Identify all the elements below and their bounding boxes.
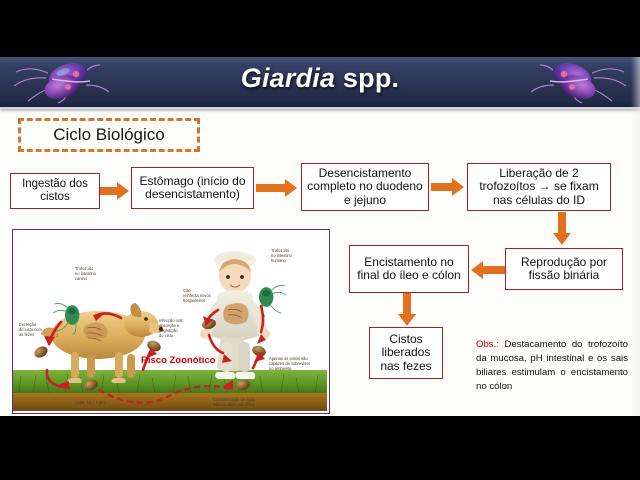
flow-box-encistamento: Encistamento no final do íleo e cólon xyxy=(349,245,469,293)
svg-text:no ambiente: no ambiente xyxy=(269,366,292,371)
flow-box-label: Estômago (início do desencistamento) xyxy=(132,175,253,202)
title-epithet: spp. xyxy=(335,63,399,93)
section-heading-label: Ciclo Biológico xyxy=(53,125,165,145)
svg-text:hospedeiros: hospedeiros xyxy=(183,298,205,303)
arrow-right-icon xyxy=(431,177,465,197)
title-banner: Giardia spp. xyxy=(0,57,640,109)
flow-box-reproducao: Reprodução por fissão binária xyxy=(505,248,623,290)
arrow-right-icon xyxy=(256,178,298,198)
title-genus: Giardia xyxy=(241,63,335,93)
observation-label: Obs.: xyxy=(476,339,499,350)
flow-box-estomago: Estômago (início do desencistamento) xyxy=(131,167,254,209)
svg-text:humano: humano xyxy=(271,258,287,263)
flow-box-liberacao: Liberação de 2 trofozoítos → se fixam na… xyxy=(467,163,611,211)
flow-box-label: Liberação de 2 trofozoítos → se fixam na… xyxy=(468,167,610,207)
arrow-left-icon xyxy=(470,260,505,280)
arrow-down-icon xyxy=(397,293,417,327)
flow-box-desencistamento: Desencistamento completo no duodeno e je… xyxy=(301,163,429,211)
svg-text:canino: canino xyxy=(75,276,88,281)
giardia-trophozoite-icon xyxy=(524,59,632,105)
observation-note: Obs.: Destacamento do trofozoíto da muco… xyxy=(476,338,628,394)
svg-text:as fezes: as fezes xyxy=(19,332,34,337)
flow-box-label: Cistos liberados nas fezes xyxy=(370,333,442,373)
section-heading: Ciclo Biológico xyxy=(18,118,200,152)
svg-text:do cisto: do cisto xyxy=(159,333,174,338)
observation-text: Destacamento do trofozoíto da mucosa, pH… xyxy=(476,339,628,392)
slide-canvas: Giardia spp. xyxy=(0,57,640,416)
flow-box-ingestao: Ingestão dos cistos xyxy=(10,173,100,209)
flow-box-label: Reprodução por fissão binária xyxy=(506,256,622,283)
arrow-down-icon xyxy=(552,212,572,246)
flow-box-label: Desencistamento completo no duodeno e je… xyxy=(302,167,428,207)
flow-box-label: Ingestão dos cistos xyxy=(11,178,99,204)
zoonotic-cycle-image: Trofozoíto no intestino canino Excreção … xyxy=(12,229,330,414)
svg-text:solo ou areia por cistos: solo ou areia por cistos xyxy=(213,402,255,407)
svg-text:Cisto: 10 x 7 µm: Cisto: 10 x 7 µm xyxy=(75,400,105,405)
flow-box-label: Encistamento no final do íleo e cólon xyxy=(350,256,468,283)
risco-zoonotico-label: Risco Zoonótico xyxy=(141,355,216,366)
screenshot-stage: Giardia spp. xyxy=(0,0,640,480)
flow-box-cistos: Cistos liberados nas fezes xyxy=(369,327,443,379)
arrow-right-icon xyxy=(100,181,130,201)
right-edge-overlay xyxy=(631,57,640,416)
letterbox-top xyxy=(0,0,640,57)
letterbox-bottom xyxy=(0,416,640,480)
